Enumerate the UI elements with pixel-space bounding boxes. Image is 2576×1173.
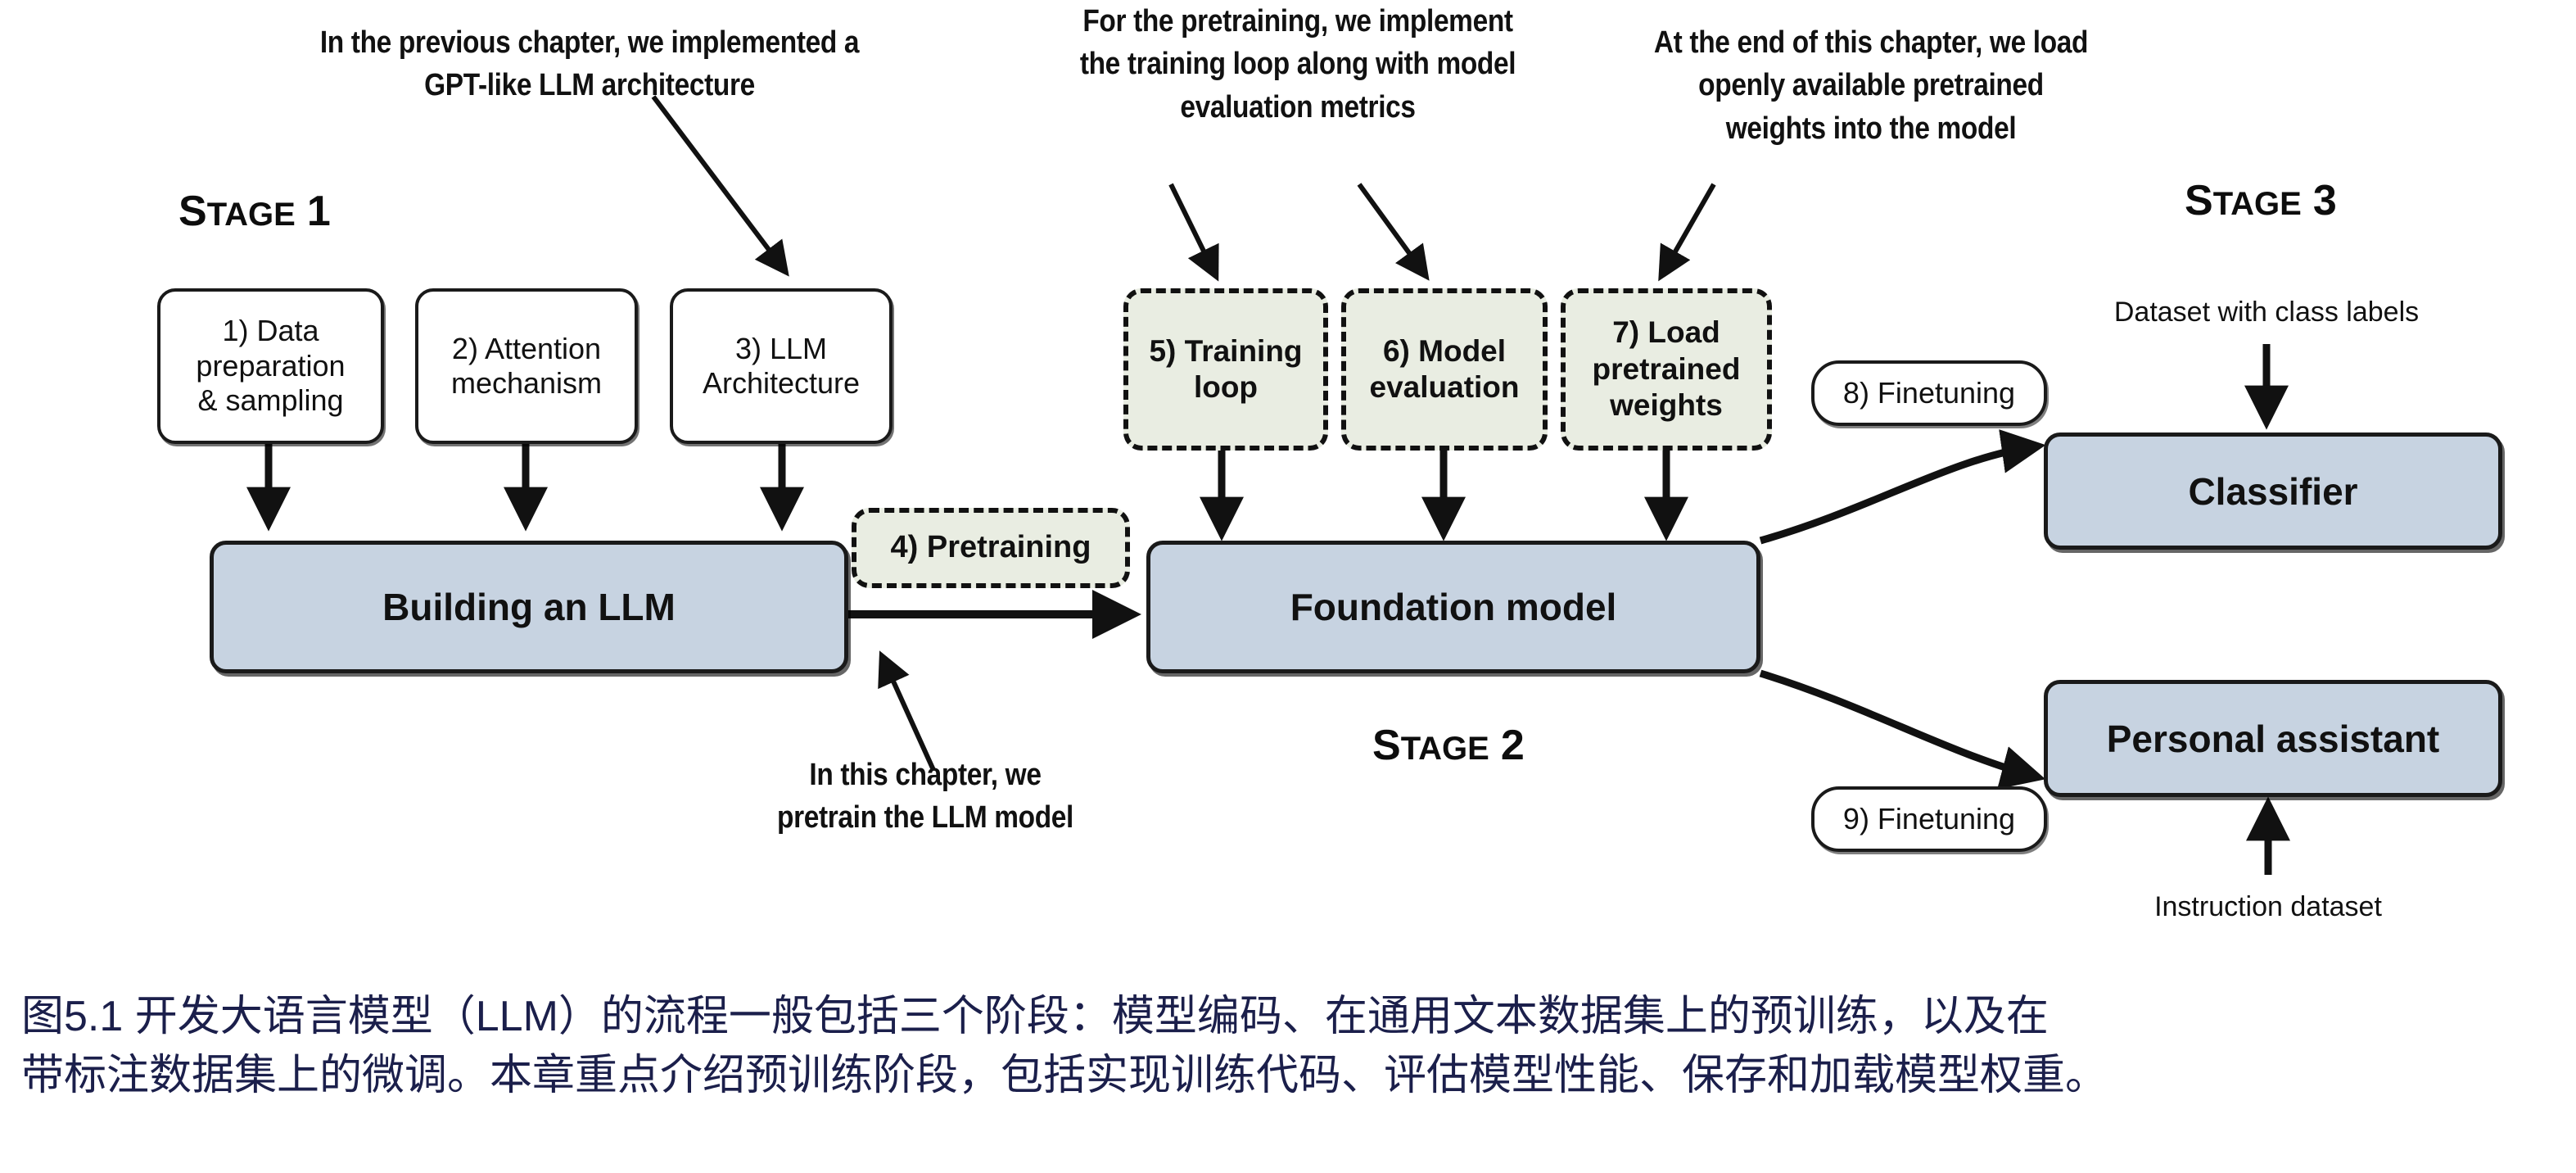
callout-line: weights into the model xyxy=(1640,107,2101,150)
node-line: preparation xyxy=(196,349,345,383)
caption-dataset-class-labels: Dataset with class labels xyxy=(2070,297,2463,328)
node-personal-assistant[interactable]: Personal assistant xyxy=(2044,680,2502,797)
node-line: pretrained xyxy=(1593,351,1741,387)
figure-caption-line-1: 图5.1 开发大语言模型（LLM）的流程一般包括三个阶段：模型编码、在通用文本数… xyxy=(21,988,2560,1047)
node-step-2[interactable]: 2) Attention mechanism xyxy=(415,288,638,444)
node-building-an-llm[interactable]: Building an LLM xyxy=(210,541,848,673)
stage-number: 1 xyxy=(307,188,331,235)
node-label: 8) Finetuning xyxy=(1843,376,2015,410)
node-line: evaluation xyxy=(1370,369,1520,405)
node-step-1[interactable]: 1) Data preparation & sampling xyxy=(157,288,384,444)
stage-initial: S xyxy=(1372,722,1401,769)
callout-arrow-training-loop xyxy=(1171,184,1215,274)
node-step-8-finetuning[interactable]: 8) Finetuning xyxy=(1811,360,2047,426)
node-step-3[interactable]: 3) LLM Architecture xyxy=(670,288,893,444)
callout-line: evaluation metrics xyxy=(1046,86,1550,129)
callout-arrow-model-eval xyxy=(1359,184,1425,274)
node-line: & sampling xyxy=(196,383,345,418)
node-step-9-finetuning[interactable]: 9) Finetuning xyxy=(1811,786,2047,852)
callout-load-weights: At the end of this chapter, we load open… xyxy=(1640,21,2101,150)
stage-initial: S xyxy=(179,188,207,235)
stage-label-1: STAGE1 xyxy=(179,187,331,236)
arrow-foundation-to-assistant xyxy=(1760,673,2036,777)
callout-line: At the end of this chapter, we load xyxy=(1640,21,2101,64)
stage-word: TAGE xyxy=(207,197,296,233)
node-line: 2) Attention xyxy=(451,332,602,366)
callout-pretraining-impl: For the pretraining, we implement the tr… xyxy=(1046,0,1550,129)
node-line: loop xyxy=(1149,369,1302,405)
node-step-4-pretraining[interactable]: 4) Pretraining xyxy=(852,508,1130,588)
caption-instruction-dataset: Instruction dataset xyxy=(2104,891,2432,923)
stage-word: TAGE xyxy=(2213,186,2302,222)
node-step-5[interactable]: 5) Training loop xyxy=(1123,288,1328,451)
node-label: Foundation model xyxy=(1290,585,1617,629)
callout-line: the training loop along with model xyxy=(1046,43,1550,85)
node-step-6[interactable]: 6) Model evaluation xyxy=(1341,288,1548,451)
node-line: 1) Data xyxy=(196,314,345,348)
callout-arrow-load-weights xyxy=(1662,184,1714,274)
node-step-7[interactable]: 7) Load pretrained weights xyxy=(1561,288,1772,451)
node-label: Personal assistant xyxy=(2107,717,2440,761)
stage-word: TAGE xyxy=(1401,731,1489,767)
callout-arrow-prev-chapter xyxy=(653,97,784,270)
stage-number: 2 xyxy=(1501,722,1525,769)
node-classifier[interactable]: Classifier xyxy=(2044,433,2502,550)
callout-line: openly available pretrained xyxy=(1640,64,2101,106)
stage-label-2: STAGE2 xyxy=(1372,721,1525,770)
figure-caption: 图5.1 开发大语言模型（LLM）的流程一般包括三个阶段：模型编码、在通用文本数… xyxy=(21,988,2560,1106)
node-line: 7) Load xyxy=(1593,315,1741,351)
callout-line: pretrain the LLM model xyxy=(745,796,1105,839)
node-line: weights xyxy=(1593,387,1741,423)
node-line: mechanism xyxy=(451,366,602,401)
node-label: Classifier xyxy=(2188,469,2357,514)
callout-line: GPT-like LLM architecture xyxy=(294,64,885,106)
node-line: Architecture xyxy=(703,366,860,401)
callout-line: For the pretraining, we implement xyxy=(1046,0,1550,43)
arrow-foundation-to-classifier xyxy=(1760,446,2036,541)
node-foundation-model[interactable]: Foundation model xyxy=(1146,541,1760,673)
callout-prev-chapter: In the previous chapter, we implemented … xyxy=(294,21,885,107)
callout-this-chapter: In this chapter, we pretrain the LLM mod… xyxy=(745,754,1105,840)
callout-line: In this chapter, we xyxy=(745,754,1105,796)
node-label: Building an LLM xyxy=(382,585,676,629)
node-label: 9) Finetuning xyxy=(1843,802,2015,836)
stage-label-3: STAGE3 xyxy=(2185,176,2337,225)
node-line: 4) Pretraining xyxy=(891,529,1091,567)
figure-page: In the previous chapter, we implemented … xyxy=(0,0,2576,1173)
figure-caption-line-2: 带标注数据集上的微调。本章重点介绍预训练阶段，包括实现训练代码、评估模型性能、保… xyxy=(21,1047,2560,1106)
node-line: 5) Training xyxy=(1149,333,1302,369)
callout-line: In the previous chapter, we implemented … xyxy=(294,21,885,64)
node-line: 3) LLM xyxy=(703,332,860,366)
node-line: 6) Model xyxy=(1370,333,1520,369)
stage-number: 3 xyxy=(2313,177,2337,224)
stage-initial: S xyxy=(2185,177,2213,224)
